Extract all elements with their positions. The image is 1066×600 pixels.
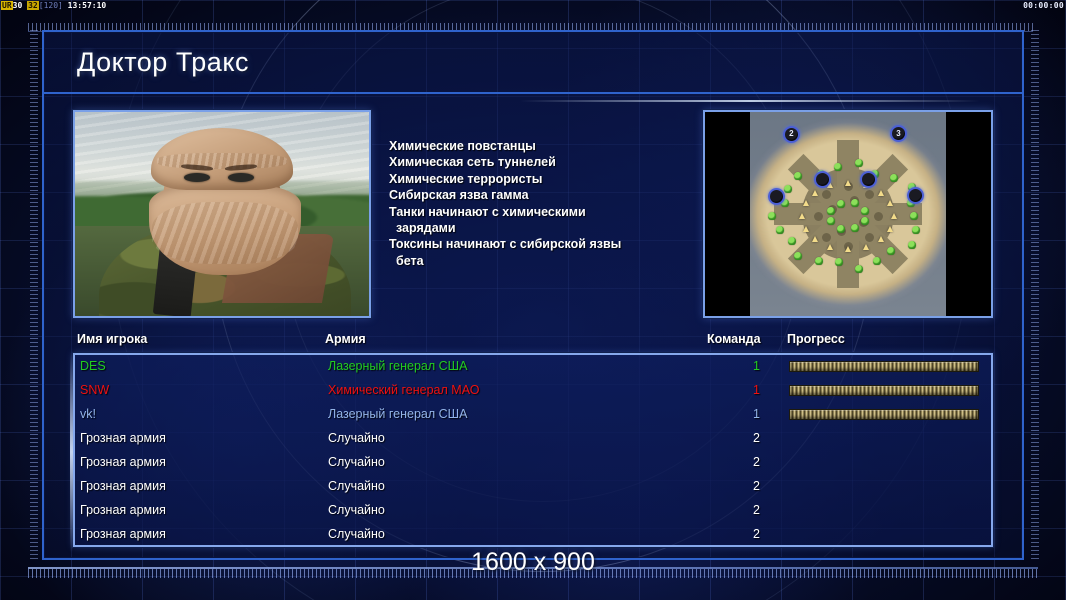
map-tree: [908, 241, 916, 249]
map-tree: [776, 226, 784, 234]
cell-team: 1: [742, 383, 760, 397]
description-line: Токсины начинают с сибирской язвы: [389, 236, 689, 252]
map-supply-marker: [812, 236, 818, 242]
cell-player-name: Грозная армия: [80, 479, 166, 493]
header-progress: Прогресс: [787, 332, 845, 346]
map-supply-marker: [845, 180, 851, 186]
cell-team: 1: [742, 359, 760, 373]
progress-bar: [789, 409, 979, 420]
cell-army: Случайно: [328, 503, 385, 517]
map-crater: [874, 212, 883, 221]
cell-player-name: Грозная армия: [80, 503, 166, 517]
status-prefix: UR: [1, 1, 13, 10]
map-supply-marker: [812, 190, 818, 196]
map-tree: [851, 199, 859, 207]
status-value2: 32: [27, 1, 39, 10]
cell-team: 1: [742, 407, 760, 421]
cell-player-name: Грозная армия: [80, 431, 166, 445]
map-tree: [794, 252, 802, 260]
map-start-position: [860, 171, 877, 188]
panel-titlebar: Доктор Тракс: [44, 32, 1022, 94]
cell-player-name: DES: [80, 359, 106, 373]
map-start-position: 3: [890, 125, 907, 142]
description-line: Химическая сеть туннелей: [389, 154, 689, 170]
map-crater: [865, 233, 874, 242]
map-supply-marker: [863, 244, 869, 250]
map-supply-marker: [887, 226, 893, 232]
map-supply-marker: [845, 246, 851, 252]
table-row[interactable]: Грозная армияСлучайно2: [75, 451, 991, 475]
map-tree: [834, 163, 842, 171]
cell-army: Случайно: [328, 527, 385, 541]
map-tree: [827, 207, 835, 215]
header-army: Армия: [325, 332, 366, 346]
map-tree: [837, 200, 845, 208]
map-crater: [814, 212, 823, 221]
map-supply-marker: [891, 213, 897, 219]
frame-ruler-right: [1031, 30, 1039, 560]
table-row[interactable]: Грозная армияСлучайно2: [75, 427, 991, 451]
map-tree: [851, 224, 859, 232]
main-panel: Доктор Тракс Химические повстанцыХимичес…: [42, 30, 1024, 560]
resolution-label: 1600 x 900: [0, 548, 1066, 577]
map-tree: [788, 237, 796, 245]
progress-bar: [789, 361, 979, 372]
map-tree: [784, 185, 792, 193]
description-line: Химические повстанцы: [389, 138, 689, 154]
cell-progress: [789, 385, 979, 396]
cell-team: 2: [742, 503, 760, 517]
table-row[interactable]: Грозная армияСлучайно2: [75, 499, 991, 523]
general-description: Химические повстанцыХимическая сеть тунн…: [389, 110, 689, 320]
map-crater: [865, 190, 874, 199]
map-tree: [855, 159, 863, 167]
map-supply-marker: [803, 226, 809, 232]
status-clock: 13:57:10: [68, 1, 107, 10]
map-supply-marker: [803, 200, 809, 206]
cell-army: Лазерный генерал США: [328, 407, 467, 421]
map-tree: [768, 212, 776, 220]
description-line: зарядами: [389, 220, 689, 236]
player-table: DESЛазерный генерал США1SNWХимический ге…: [73, 353, 993, 547]
header-player-name: Имя игрока: [77, 332, 147, 346]
page-title: Доктор Тракс: [77, 47, 249, 78]
description-line: Сибирская язва гамма: [389, 187, 689, 203]
table-row[interactable]: DESЛазерный генерал США1: [75, 355, 991, 379]
top-status-bar: UR30 32[120] 13:57:10 00:00:00: [0, 0, 1066, 11]
cell-player-name: Грозная армия: [80, 527, 166, 541]
frame-ruler-left: [30, 30, 38, 560]
general-portrait: [73, 110, 371, 318]
cell-team: 2: [742, 527, 760, 541]
map-supply-marker: [827, 244, 833, 250]
map-tree: [794, 172, 802, 180]
cell-player-name: SNW: [80, 383, 109, 397]
cell-army: Случайно: [328, 455, 385, 469]
status-bracket: [120]: [39, 1, 63, 10]
map-tree: [815, 257, 823, 265]
cell-player-name: vk!: [80, 407, 96, 421]
status-value1: 30: [13, 1, 23, 10]
map-preview[interactable]: 123: [703, 110, 993, 318]
map-tree: [910, 212, 918, 220]
cell-team: 2: [742, 479, 760, 493]
map-start-position: [768, 188, 785, 205]
map-image: 123: [750, 112, 946, 316]
cell-progress: [789, 361, 979, 372]
map-start-position: [907, 187, 924, 204]
table-row[interactable]: Грозная армияСлучайно2: [75, 475, 991, 499]
map-tree: [835, 258, 843, 266]
table-row[interactable]: vk!Лазерный генерал США1: [75, 403, 991, 427]
top-status-left: UR30 32[120] 13:57:10: [1, 0, 106, 11]
player-table-header: Имя игрока Армия Команда Прогресс: [73, 332, 993, 352]
map-tree: [855, 265, 863, 273]
cell-team: 2: [742, 431, 760, 445]
cell-army: Случайно: [328, 479, 385, 493]
map-supply-marker: [887, 200, 893, 206]
map-tree: [837, 225, 845, 233]
description-line: Танки начинают с химическими: [389, 204, 689, 220]
cell-army: Химический генерал МАО: [328, 383, 479, 397]
map-start-position: 2: [783, 126, 800, 143]
cell-player-name: Грозная армия: [80, 455, 166, 469]
map-tree: [861, 207, 869, 215]
table-row[interactable]: SNWХимический генерал МАО1: [75, 379, 991, 403]
cell-team: 2: [742, 455, 760, 469]
header-team: Команда: [707, 332, 761, 346]
cell-army: Лазерный генерал США: [328, 359, 467, 373]
map-tree: [861, 217, 869, 225]
description-line: Химические террористы: [389, 171, 689, 187]
map-crater: [822, 233, 831, 242]
table-row[interactable]: Грозная армияСлучайно2: [75, 523, 991, 547]
map-tree: [887, 247, 895, 255]
description-line: бета: [389, 253, 689, 269]
info-row: Химические повстанцыХимическая сеть тунн…: [73, 110, 993, 320]
map-supply-marker: [878, 190, 884, 196]
cell-progress: [789, 409, 979, 420]
map-supply-marker: [878, 236, 884, 242]
map-supply-marker: [799, 213, 805, 219]
match-timer: 00:00:00: [1023, 0, 1064, 11]
progress-bar: [789, 385, 979, 396]
cell-army: Случайно: [328, 431, 385, 445]
map-tree: [912, 226, 920, 234]
